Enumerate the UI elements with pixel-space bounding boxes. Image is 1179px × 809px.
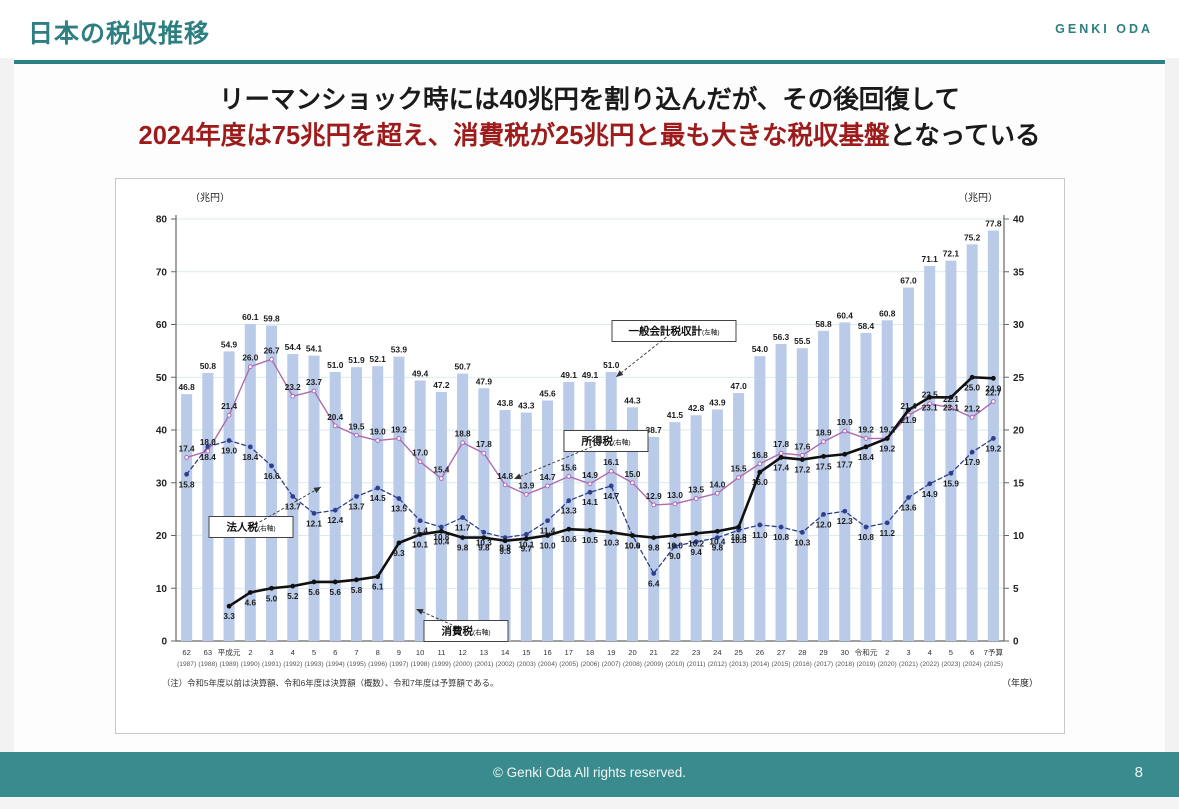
bar-value-label: 41.5 (667, 410, 684, 420)
right-axis-unit: （兆円） (958, 192, 998, 204)
data-point (248, 445, 252, 449)
corporate-tax-value-label: 13.7 (285, 502, 301, 511)
corporate-tax-value-label: 11.2 (879, 529, 895, 538)
bar-value-label: 43.9 (709, 397, 726, 407)
bar-value-label: 47.0 (730, 381, 747, 391)
bar-total-revenue (669, 422, 680, 641)
x-tick-label-year: (2012) (708, 661, 727, 668)
income-tax-value-label: 14.0 (709, 480, 725, 489)
data-point (397, 541, 401, 545)
data-point (864, 445, 868, 449)
data-point (567, 475, 571, 479)
x-tick-label-year: (2000) (453, 661, 472, 668)
corporate-tax-value-label: 13.5 (391, 505, 407, 514)
x-tick-label-year: (2006) (580, 661, 599, 668)
x-tick-label-era: 22 (671, 648, 679, 657)
bar-value-label: 53.9 (391, 345, 408, 355)
income-tax-value-label: 13.0 (667, 491, 683, 500)
data-point (524, 492, 528, 496)
consumption-tax-value-label: 10.4 (709, 537, 725, 546)
x-tick-label-era: 2 (248, 648, 252, 657)
data-point (715, 529, 719, 533)
data-point (588, 482, 592, 486)
y-tick-label-right: 15 (1013, 478, 1025, 489)
consumption-tax-value-label: 10.3 (603, 538, 619, 547)
income-tax-value-label: 15.4 (433, 466, 449, 475)
income-tax-value-label: 14.9 (582, 471, 598, 480)
y-tick-label-right: 10 (1013, 531, 1025, 542)
x-tick-label-era: 4 (291, 648, 295, 657)
consumption-tax-value-label: 5.6 (308, 588, 320, 597)
income-tax-value-label: 17.4 (179, 444, 195, 453)
x-tick-label-era: 5 (312, 648, 316, 657)
corporate-tax-value-label: 19.0 (221, 447, 237, 456)
bar-total-revenue (967, 244, 978, 641)
data-point (567, 499, 571, 503)
corporate-tax-value-label: 10.8 (773, 533, 789, 542)
income-tax-value-label: 15.5 (731, 464, 747, 473)
data-point (673, 502, 677, 506)
corporate-tax-value-label: 12.1 (306, 519, 322, 528)
data-point (843, 452, 847, 456)
bar-value-label: 54.9 (221, 339, 238, 349)
x-tick-label-era: 25 (734, 648, 742, 657)
data-point (588, 490, 592, 494)
consumption-tax-value-label: 9.8 (648, 544, 660, 553)
data-point (758, 523, 762, 527)
bar-total-revenue (797, 348, 808, 641)
x-tick-label-year: (2011) (687, 661, 706, 668)
bar-total-revenue (754, 356, 765, 641)
x-tick-label-year: (2004) (538, 661, 557, 668)
data-point (843, 429, 847, 433)
x-tick-label-era: 62 (182, 648, 190, 657)
bar-value-label: 43.3 (518, 401, 535, 411)
consumption-tax-value-label: 5.6 (330, 588, 342, 597)
bar-value-label: 72.1 (943, 249, 960, 259)
data-point (758, 462, 762, 466)
consumption-tax-value-label: 9.8 (457, 544, 469, 553)
bar-value-label: 77.8 (985, 219, 1002, 229)
consumption-tax-value-label: 10.6 (561, 535, 577, 544)
headline-tail: となっている (890, 122, 1041, 150)
x-tick-label-era: 20 (628, 648, 636, 657)
x-tick-label-era: 6 (333, 648, 337, 657)
data-point (291, 394, 295, 398)
data-point (248, 591, 252, 595)
data-point (461, 441, 465, 445)
bar-value-label: 55.5 (794, 336, 811, 346)
x-tick-label-year: (2025) (984, 661, 1003, 668)
consumption-tax-value-label: 10.1 (412, 540, 428, 549)
corporate-tax-value-label: 6.4 (648, 579, 660, 588)
bar-total-revenue (224, 351, 235, 641)
x-tick-label-era: 24 (713, 648, 721, 657)
income-tax-value-label: 19.2 (858, 425, 874, 434)
bar-value-label: 47.9 (476, 376, 493, 386)
income-tax-value-label: 17.0 (412, 449, 428, 458)
data-point (376, 439, 380, 443)
bar-total-revenue (478, 388, 489, 641)
income-tax-value-label: 23.2 (285, 383, 301, 392)
bar-total-revenue (181, 394, 192, 641)
data-point (185, 456, 189, 460)
y-tick-label-right: 35 (1013, 267, 1025, 278)
headline-block: リーマンショック時には40兆円を割り込んだが、その後回復して 2024年度は75… (0, 82, 1179, 154)
corporate-tax-value-label: 11.7 (455, 524, 471, 533)
bar-value-label: 45.6 (539, 388, 556, 398)
x-tick-label-year: (2017) (814, 661, 833, 668)
data-point (524, 533, 528, 537)
consumption-tax-value-label: 10.0 (540, 542, 556, 551)
y-tick-label-right: 0 (1013, 637, 1019, 648)
x-tick-label-year: (2022) (920, 661, 939, 668)
data-point (397, 437, 401, 441)
x-tick-label-year: (2015) (772, 661, 791, 668)
bar-value-label: 43.8 (497, 398, 514, 408)
headline-line-1: リーマンショック時には40兆円を割り込んだが、その後回復して (0, 82, 1179, 118)
data-point (333, 508, 337, 512)
data-point (991, 376, 995, 380)
data-point (800, 458, 804, 462)
corporate-tax-value-label: 14.7 (603, 492, 619, 501)
x-tick-label-year: (1996) (368, 661, 387, 668)
x-tick-label-era: 14 (501, 648, 509, 657)
data-point (822, 440, 826, 444)
tax-revenue-chart: 01020304050607080（兆円）0510152025303540（兆円… (116, 179, 1064, 733)
y-tick-label-left: 40 (156, 426, 168, 437)
data-point (928, 482, 932, 486)
data-point (439, 525, 443, 529)
data-point (694, 497, 698, 501)
income-tax-value-label: 13.9 (518, 481, 534, 490)
x-axis-title: （年度） (1002, 677, 1038, 688)
x-tick-label-year: (1991) (262, 661, 281, 668)
income-tax-value-label: 21.2 (964, 404, 980, 413)
bar-value-label: 60.8 (879, 308, 896, 318)
data-point (482, 530, 486, 534)
x-tick-label-era: 63 (204, 648, 212, 657)
x-tick-label-era: 3 (906, 648, 910, 657)
consumption-tax-value-label: 10.8 (731, 533, 747, 542)
bar-value-label: 75.2 (964, 232, 981, 242)
bar-total-revenue (691, 415, 702, 641)
income-tax-value-label: 21.4 (900, 402, 916, 411)
consumption-tax-value-label: 6.1 (372, 583, 384, 592)
consumption-tax-value-label: 10.4 (433, 537, 449, 546)
consumption-tax-value-label: 21.9 (900, 416, 916, 425)
consumption-tax-value-label: 5.8 (351, 586, 363, 595)
consumption-tax-value-label: 24.9 (985, 384, 1001, 393)
consumption-tax-value-label: 25.0 (964, 383, 980, 392)
y-tick-label-left: 30 (156, 478, 168, 489)
bar-total-revenue (521, 413, 532, 641)
data-point (185, 472, 189, 476)
x-tick-label-year: (2008) (623, 661, 642, 668)
data-point (355, 495, 359, 499)
data-point (652, 503, 656, 507)
x-tick-label-year: (1990) (241, 661, 260, 668)
x-tick-label-year: (2002) (496, 661, 515, 668)
bar-value-label: 51.9 (348, 355, 365, 365)
bar-value-label: 51.0 (327, 360, 344, 370)
bar-value-label: 60.1 (242, 312, 259, 322)
income-tax-value-label: 17.6 (794, 442, 810, 451)
bar-total-revenue (860, 333, 871, 641)
data-point (843, 509, 847, 513)
data-point (503, 539, 507, 543)
corporate-tax-value-label: 12.4 (327, 516, 343, 525)
data-point (970, 450, 974, 454)
x-tick-label-era: 23 (692, 648, 700, 657)
x-tick-label-year: (1998) (411, 661, 430, 668)
chart-note: （注）令和5年度以前は決算額、令和6年度は決算額（概数）、令和7年度は予算額であ… (162, 678, 498, 688)
income-tax-value-label: 16.8 (752, 451, 768, 460)
x-tick-label-era: 7予算 (984, 647, 1004, 657)
data-point (631, 481, 635, 485)
chart-canvas: 01020304050607080（兆円）0510152025303540（兆円… (116, 179, 1064, 733)
x-tick-label-year: (2023) (941, 661, 960, 668)
consumption-tax-value-label: 23.1 (943, 403, 959, 412)
data-point (546, 484, 550, 488)
data-point (991, 437, 995, 441)
income-tax-value-label: 17.8 (476, 440, 492, 449)
data-point (355, 433, 359, 437)
data-point (715, 491, 719, 495)
data-point (227, 413, 231, 417)
data-point (822, 513, 826, 517)
x-tick-label-era: 16 (543, 648, 551, 657)
x-tick-label-year: (2021) (899, 661, 918, 668)
income-tax-value-label: 14.7 (540, 473, 556, 482)
data-point (291, 495, 295, 499)
corporate-tax-value-label: 14.5 (370, 494, 386, 503)
bar-total-revenue (903, 288, 914, 641)
y-tick-label-left: 80 (156, 215, 168, 226)
data-point (800, 530, 804, 534)
data-point (270, 357, 274, 361)
data-point (779, 525, 783, 529)
y-tick-label-right: 5 (1013, 584, 1019, 595)
consumption-tax-value-label: 18.4 (858, 453, 874, 462)
data-point (248, 365, 252, 369)
x-tick-label-year: (2019) (856, 661, 875, 668)
bar-value-label: 54.1 (306, 344, 323, 354)
x-tick-label-year: (1993) (304, 661, 323, 668)
x-tick-label-era: 平成元 (218, 647, 241, 657)
x-tick-label-year: (2005) (559, 661, 578, 668)
income-tax-value-label: 19.9 (837, 418, 853, 427)
income-tax-value-label: 17.8 (773, 440, 789, 449)
consumption-tax-value-label: 10.5 (582, 536, 598, 545)
bar-total-revenue (924, 266, 935, 641)
bar-value-label: 42.8 (688, 403, 705, 413)
bar-total-revenue (818, 331, 829, 641)
data-point (864, 437, 868, 441)
data-point (949, 471, 953, 475)
x-tick-label-year: (1992) (283, 661, 302, 668)
x-tick-label-era: 11 (437, 648, 445, 657)
data-point (439, 477, 443, 481)
y-tick-label-left: 20 (156, 531, 168, 542)
bar-value-label: 49.1 (582, 370, 599, 380)
y-tick-label-right: 40 (1013, 215, 1025, 226)
bar-total-revenue (500, 410, 511, 641)
data-point (461, 536, 465, 540)
data-point (991, 400, 995, 404)
x-tick-label-year: (2020) (878, 661, 897, 668)
total-revenue-callout: 一般会計税収計(左軸) (612, 321, 736, 378)
bar-total-revenue (457, 374, 468, 641)
consumption-tax-value-label: 5.0 (266, 594, 278, 603)
y-tick-label-left: 10 (156, 584, 168, 595)
income-tax-value-label: 19.5 (348, 422, 364, 431)
corporate-tax-value-label: 14.1 (582, 498, 598, 507)
income-tax-value-label: 19.2 (879, 425, 895, 434)
bar-value-label: 56.3 (773, 332, 790, 342)
income-tax-value-label: 14.8 (497, 472, 513, 481)
income-tax-value-label: 13.5 (688, 486, 704, 495)
x-tick-label-era: 9 (397, 648, 401, 657)
y-tick-label-left: 0 (161, 637, 167, 648)
consumption-tax-value-label: 19.2 (879, 444, 895, 453)
corporate-tax-value-label: 11.4 (540, 527, 556, 536)
x-tick-label-era: 令和元 (855, 647, 878, 657)
slide-header: 日本の税収推移 GENKI ODA (0, 0, 1179, 58)
x-tick-label-era: 2 (885, 648, 889, 657)
bar-value-label: 59.8 (263, 314, 280, 324)
slide-footer: © Genki Oda All rights reserved. 8 (0, 752, 1179, 797)
bar-value-label: 58.8 (815, 319, 832, 329)
x-tick-label-era: 29 (819, 648, 827, 657)
corporate-tax-value-label: 14.9 (922, 490, 938, 499)
x-tick-label-era: 15 (522, 648, 530, 657)
x-tick-label-year: (2009) (644, 661, 663, 668)
brand-logo: GENKI ODA (1055, 22, 1153, 36)
income-tax-value-label: 19.2 (391, 425, 407, 434)
x-tick-label-era: 12 (458, 648, 466, 657)
left-axis-unit: （兆円） (190, 192, 230, 204)
income-tax-value-label: 19.0 (370, 428, 386, 437)
x-tick-label-era: 17 (565, 648, 573, 657)
x-tick-label-era: 19 (607, 648, 615, 657)
consumption-tax-value-label: 17.2 (794, 466, 810, 475)
income-tax-value-label: 18.9 (816, 429, 832, 438)
y-tick-label-right: 30 (1013, 320, 1025, 331)
data-point (546, 519, 550, 523)
data-point (482, 451, 486, 455)
x-tick-label-era: 26 (756, 648, 764, 657)
income-tax-value-label: 15.6 (561, 463, 577, 472)
income-tax-value-label: 22.5 (922, 391, 938, 400)
x-tick-label-era: 27 (777, 648, 785, 657)
x-tick-label-era: 4 (928, 648, 932, 657)
data-point (333, 424, 337, 428)
page-number: 8 (1135, 764, 1143, 781)
page-title: 日本の税収推移 (28, 14, 210, 50)
consumption-tax-value-label: 10.0 (667, 542, 683, 551)
data-point (609, 530, 613, 534)
consumption-tax-value-label: 3.3 (223, 612, 235, 621)
x-tick-label-year: (2018) (835, 661, 854, 668)
data-point (885, 521, 889, 525)
bar-value-label: 52.1 (370, 354, 387, 364)
corporate-tax-value-label: 9.4 (690, 548, 702, 557)
chart-container: 01020304050607080（兆円）0510152025303540（兆円… (115, 178, 1065, 734)
data-point (567, 527, 571, 531)
x-tick-label-year: (1995) (347, 661, 366, 668)
data-point (864, 525, 868, 529)
consumption-tax-value-label: 9.3 (393, 549, 405, 558)
income-tax-value-label: 26.0 (242, 354, 258, 363)
x-tick-label-year: (2014) (750, 661, 769, 668)
x-tick-label-year: (2003) (517, 661, 536, 668)
x-tick-label-year: (2016) (793, 661, 812, 668)
bar-total-revenue (202, 373, 213, 641)
header-divider (14, 60, 1165, 64)
data-point (503, 483, 507, 487)
corporate-tax-value-label: 16.6 (264, 472, 280, 481)
x-tick-label-era: 30 (841, 648, 849, 657)
x-tick-label-era: 21 (649, 648, 657, 657)
bar-value-label: 58.4 (858, 321, 875, 331)
data-point (609, 469, 613, 473)
consumption-tax-value-label: 23.1 (922, 403, 938, 412)
data-point (588, 528, 592, 532)
corporate-tax-value-label: 11.4 (412, 527, 428, 536)
corporate-tax-value-label: 10.3 (794, 538, 810, 547)
y-tick-label-right: 25 (1013, 373, 1025, 384)
data-point (673, 534, 677, 538)
consumption-tax-value-label: 17.5 (816, 462, 832, 471)
consumption-tax-value-label: 9.5 (499, 547, 511, 556)
income-tax-value-label: 15.0 (624, 470, 640, 479)
data-point (822, 454, 826, 458)
bar-total-revenue (606, 372, 617, 641)
corporate-tax-value-label: 17.9 (964, 458, 980, 467)
x-tick-label-era: 8 (376, 648, 380, 657)
income-tax-value-label: 18.8 (455, 430, 471, 439)
data-point (418, 519, 422, 523)
y-tick-label-left: 60 (156, 320, 168, 331)
corporate-tax-value-label: 13.7 (348, 502, 364, 511)
consumption-tax-value-label: 9.7 (521, 545, 533, 554)
data-point (355, 578, 359, 582)
corporate-tax-value-label: 10.8 (858, 533, 874, 542)
data-point (461, 516, 465, 520)
corporate-tax-value-label: 15.9 (943, 479, 959, 488)
x-tick-label-year: (2013) (729, 661, 748, 668)
bar-value-label: 54.0 (752, 344, 769, 354)
x-tick-label-year: (1994) (326, 661, 345, 668)
bar-value-label: 71.1 (922, 254, 939, 264)
data-point (779, 451, 783, 455)
bar-value-label: 50.7 (454, 362, 471, 372)
x-tick-label-year: (1997) (389, 661, 408, 668)
y-tick-label-left: 70 (156, 267, 168, 278)
consumption-tax-value-label: 17.7 (837, 460, 853, 469)
bar-total-revenue (988, 231, 999, 641)
consumption-tax-value-label: 10.0 (624, 542, 640, 551)
data-point (312, 389, 316, 393)
bar-total-revenue (712, 409, 723, 641)
income-tax-value-label: 26.7 (264, 346, 280, 355)
data-point (652, 536, 656, 540)
consumption-tax-value-label: 16.0 (752, 478, 768, 487)
x-tick-label-year: (1989) (220, 661, 239, 668)
corporate-tax-value-label: 18.4 (200, 453, 216, 462)
consumption-tax-value-label: 9.8 (478, 544, 490, 553)
